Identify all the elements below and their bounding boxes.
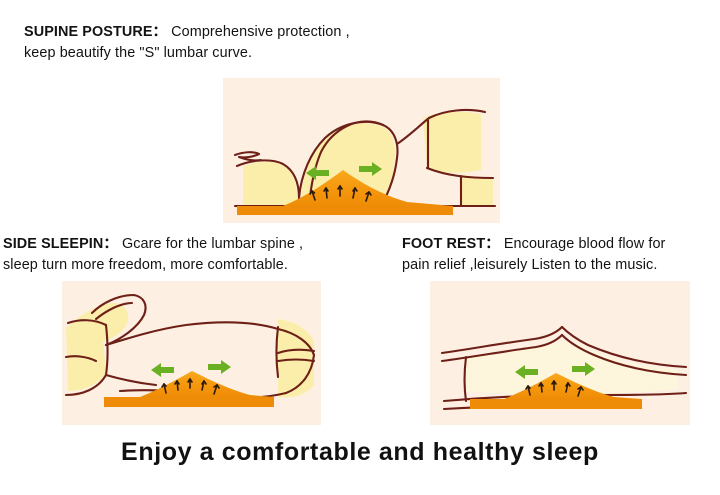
wedge-pillow-base bbox=[470, 399, 642, 409]
foot-rest-illustration bbox=[430, 281, 690, 425]
caption-foot-heading: FOOT REST： bbox=[402, 236, 500, 252]
foot-rest-drawing bbox=[430, 281, 690, 425]
caption-foot-line-1: FOOT REST： Encourage blood flow for bbox=[402, 234, 665, 255]
side-sleeping-drawing bbox=[62, 281, 321, 425]
side-sleeping-illustration bbox=[62, 281, 321, 425]
caption-side-heading: SIDE SLEEPIN： bbox=[3, 236, 118, 252]
caption-supine-heading: SUPINE POSTURE： bbox=[24, 24, 167, 40]
caption-side-line-1: SIDE SLEEPIN： Gcare for the lumbar spine… bbox=[3, 234, 303, 255]
wedge-pillow-base bbox=[104, 397, 274, 407]
caption-supine-line-1-rest: Comprehensive protection , bbox=[167, 24, 350, 40]
caption-side-sleeping: SIDE SLEEPIN： Gcare for the lumbar spine… bbox=[3, 234, 303, 276]
support-arrow-left-icon bbox=[151, 363, 174, 377]
support-arrow-right-icon bbox=[208, 360, 231, 374]
caption-foot-line-2: pain relief ,leisurely Listen to the mus… bbox=[402, 255, 665, 276]
caption-side-line-1-rest: Gcare for the lumbar spine , bbox=[118, 236, 303, 252]
wedge-pillow-base bbox=[237, 206, 453, 215]
caption-side-line-2: sleep turn more freedom, more comfortabl… bbox=[3, 255, 303, 276]
caption-supine-line-1: SUPINE POSTURE： Comprehensive protection… bbox=[24, 22, 350, 43]
caption-foot-line-1-rest: Encourage blood flow for bbox=[500, 236, 666, 252]
supine-posture-illustration bbox=[223, 78, 500, 223]
wedge-pillow bbox=[104, 371, 274, 397]
supine-posture-drawing bbox=[223, 78, 500, 223]
caption-foot-rest: FOOT REST： Encourage blood flow for pain… bbox=[402, 234, 665, 276]
caption-supine-posture: SUPINE POSTURE： Comprehensive protection… bbox=[24, 22, 350, 64]
infographic-stage: SUPINE POSTURE： Comprehensive protection… bbox=[0, 0, 720, 495]
caption-supine-line-2: keep beautify the "S" lumbar curve. bbox=[24, 43, 350, 64]
thigh-shape bbox=[423, 112, 481, 173]
tagline: Enjoy a comfortable and healthy sleep bbox=[0, 438, 720, 467]
